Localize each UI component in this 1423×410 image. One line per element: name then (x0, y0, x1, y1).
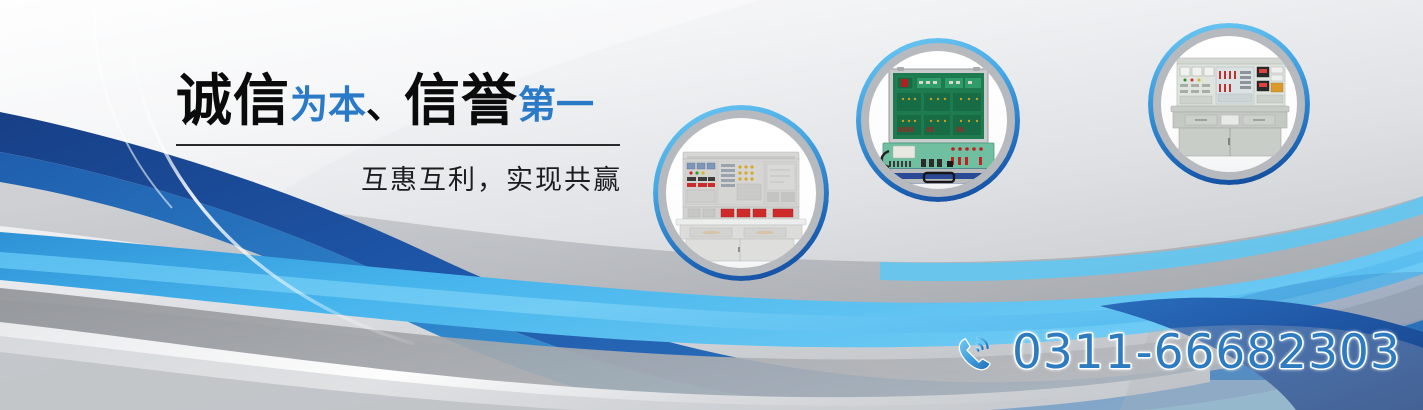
slogan-block: 诚信 为本 、 信誉 第一 互惠互利，实现共赢 (176, 74, 622, 197)
contact-phone[interactable]: 0311-66682303 (952, 325, 1401, 380)
large-electrical-training-bench-illustration (1161, 36, 1297, 172)
portable-electronics-lab-case-illustration (869, 51, 1007, 189)
product-circle-3[interactable] (1148, 23, 1310, 185)
product-circle-2[interactable] (856, 38, 1020, 202)
promotional-banner: 诚信 为本 、 信誉 第一 互惠互利，实现共赢 (0, 0, 1423, 410)
phone-call-icon (952, 330, 998, 376)
circle-3-photo (1161, 36, 1297, 172)
headline-divider (176, 144, 620, 146)
headline-separator: 、 (366, 86, 404, 124)
electrical-training-workbench-illustration (666, 118, 816, 268)
headline-part-5: 第一 (518, 86, 594, 124)
phone-number: 0311-66682303 (1012, 325, 1401, 380)
circle-1-photo (666, 118, 816, 268)
sub-slogan: 互惠互利，实现共赢 (176, 158, 622, 197)
circle-2-photo (869, 51, 1007, 189)
headline: 诚信 为本 、 信誉 第一 (176, 74, 622, 130)
headline-part-2: 为本 (290, 86, 366, 124)
headline-part-1: 诚信 (176, 74, 290, 130)
product-circle-1[interactable] (653, 105, 829, 281)
headline-part-4: 信誉 (404, 74, 518, 130)
